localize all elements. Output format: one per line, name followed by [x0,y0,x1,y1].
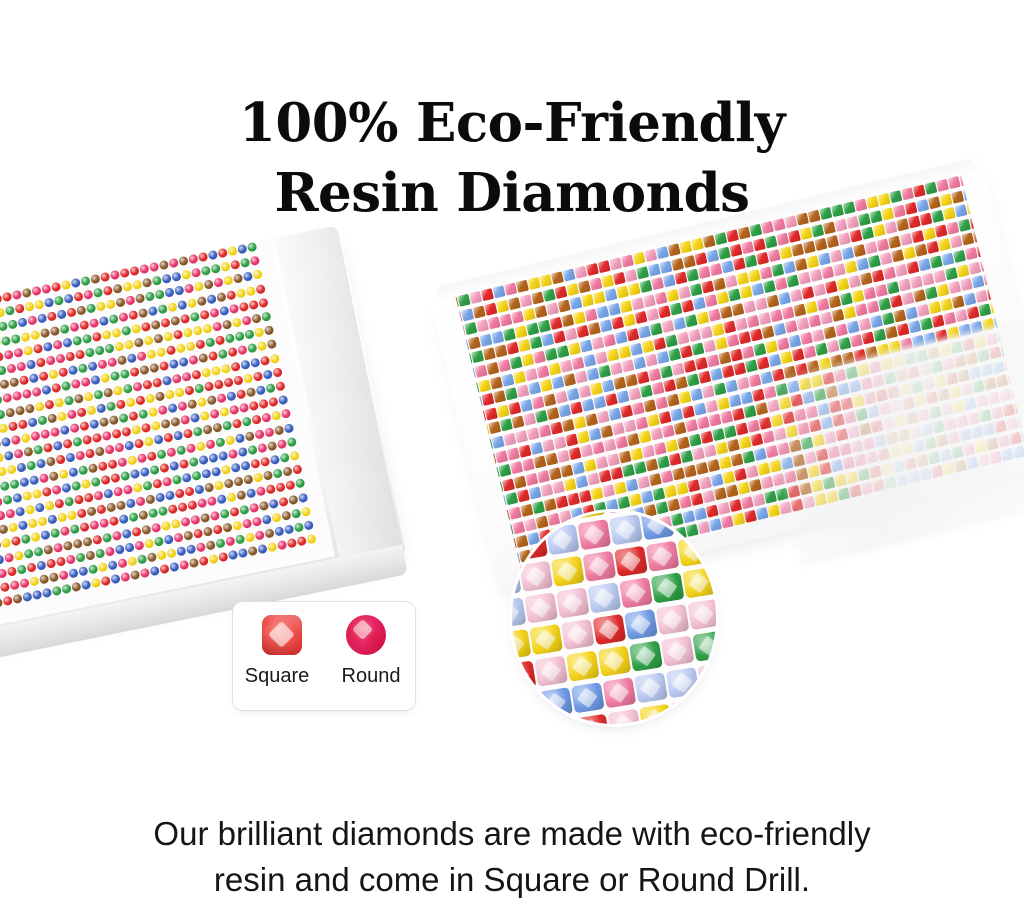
legend-label-square: Square [241,665,313,688]
round-drill-bead [220,363,231,374]
round-drill-bead [125,397,136,408]
round-drill-bead [27,417,38,428]
round-drill-bead [102,532,113,543]
round-drill-bead [109,415,120,426]
round-drill-bead [212,524,223,535]
round-drill-bead [165,490,176,501]
product-description: Our brilliant diamonds are made with eco… [0,811,1024,903]
round-drill-bead [33,445,44,456]
round-drill-bead [197,498,208,509]
round-drill-bead [72,538,83,549]
round-drill-bead [153,435,164,446]
round-drill-bead [208,351,219,362]
round-drill-bead [118,311,129,322]
round-drill-bead [79,421,90,432]
round-drill-bead [32,488,43,499]
round-drill-bead [218,451,229,462]
round-drill-bead [64,496,75,507]
magnified-square-gem [541,512,575,524]
magnified-square-gem [577,519,611,550]
round-drill-bead [4,552,15,563]
round-drill-bead [183,530,194,541]
round-drill-bead [155,391,166,402]
round-drill-bead [240,258,251,269]
round-drill-bead [269,353,280,364]
round-drill-bead [139,264,150,275]
round-drill-bead [82,333,93,344]
round-drill-bead [68,568,79,579]
round-drill-bead [79,319,90,330]
round-drill-bead [58,469,69,480]
round-drill-bead [270,454,281,465]
round-drill-bead [228,449,239,460]
round-drill-bead [78,363,89,374]
round-drill-bead [159,260,170,271]
round-drill-bead [192,325,203,336]
round-drill-bead [218,552,229,563]
round-drill-bead [3,349,14,360]
round-drill-bead [233,274,244,285]
round-drill-bead [26,359,37,370]
round-drill-bead [128,512,139,523]
round-drill-bead [201,367,212,378]
round-drill-bead [187,399,198,410]
round-drill-bead [138,307,149,318]
round-drill-bead [6,465,17,476]
round-drill-bead [134,337,145,348]
round-drill-bead [255,385,266,396]
round-drill-bead [282,466,293,477]
round-drill-bead [111,327,122,338]
round-drill-bead [220,262,231,273]
round-drill-bead [258,399,269,410]
round-drill-bead [62,439,73,450]
square-drill-bead [1011,236,1024,249]
round-drill-bead [124,339,135,350]
round-drill-bead [254,327,265,338]
round-drill-bead [252,270,263,281]
round-drill-bead [18,520,29,531]
magnified-square-gem [571,682,605,713]
round-drill-bead [12,492,23,503]
round-drill-bead [166,548,177,559]
round-drill-bead [134,439,145,450]
round-drill-bead [277,540,288,551]
round-drill-bead [80,377,91,388]
round-drill-bead [291,508,302,519]
round-drill-bead [13,449,24,460]
round-drill-bead [201,468,212,479]
round-drill-bead [219,305,230,316]
magnified-square-gem [634,672,668,703]
round-drill-bead [6,363,17,374]
round-drill-bead [105,299,116,310]
drill-shape-legend-card[interactable]: Square Round [232,601,416,711]
round-drill-bead [210,510,221,521]
round-drill-bead [110,472,121,483]
round-drill-bead [57,512,68,523]
round-drill-bead [60,526,71,537]
round-drill-bead [149,262,160,273]
round-drill-bead [156,449,167,460]
round-drill-bead [93,288,104,299]
round-drill-bead [112,530,123,541]
round-drill-bead [156,347,167,358]
round-drill-bead [295,478,306,489]
round-drill-bead [33,546,44,557]
round-drill-bead [92,331,103,342]
magnified-square-gem [512,660,537,691]
round-drill-bead [90,375,101,386]
magnified-square-gem [641,512,675,540]
round-drill-bead [89,520,100,531]
round-drill-bead [120,470,131,481]
round-drill-bead [287,538,298,549]
round-drill-bead [80,276,91,287]
round-drill-bead [120,572,131,583]
round-drill-bead [61,381,72,392]
round-drill-bead [232,419,243,430]
round-drill-bead [85,347,96,358]
round-drill-bead [119,514,130,525]
round-drill-bead [288,494,299,505]
round-drill-bead [230,260,241,271]
round-drill-bead [1,538,12,549]
round-drill-bead [11,435,22,446]
round-drill-bead [198,252,209,263]
round-drill-bead [128,411,139,422]
round-drill-bead [275,482,286,493]
round-drill-bead [249,502,260,513]
round-drill-bead [130,570,141,581]
round-drill-bead [83,492,94,503]
round-drill-bead [119,268,130,279]
round-drill-bead [116,500,127,511]
round-drill-bead [7,566,18,577]
round-drill-bead [146,451,157,462]
round-drill-bead [163,534,174,545]
round-drill-bead [29,373,40,384]
round-drill-bead [250,357,261,368]
round-drill-bead [123,484,134,495]
round-drill-bead [208,453,219,464]
round-drill-bead [186,544,197,555]
round-drill-bead [238,548,249,559]
round-drill-bead [49,572,60,583]
round-drill-bead [59,323,70,334]
round-drill-bead [17,317,28,328]
round-drill-bead [40,327,51,338]
round-drill-bead [43,341,54,352]
round-drill-bead [145,292,156,303]
round-drill-bead [148,508,159,519]
product-banner: 100% Eco-Friendly Resin Diamonds Square [0,0,1024,923]
round-drill-bead [232,317,243,328]
round-drill-bead [262,369,273,380]
round-drill-bead [60,425,71,436]
round-drill-bead [37,415,48,426]
round-drill-bead [140,568,151,579]
round-drill-bead [241,315,252,326]
round-drill-bead [245,532,256,543]
round-drill-bead [183,327,194,338]
round-drill-bead [82,536,93,547]
magnified-square-gem [614,546,648,577]
round-drill-bead [208,554,219,565]
round-drill-bead [198,455,209,466]
round-drill-bead [91,578,102,589]
magnified-square-gem [534,655,568,686]
round-drill-bead [237,447,248,458]
magnified-square-gem [597,645,631,676]
round-drill-bead [221,464,232,475]
round-drill-bead [168,504,179,515]
round-drill-bead [122,282,133,293]
caption-line-2: resin and come in Square or Round Drill. [0,857,1024,903]
round-drill-bead [169,359,180,370]
round-drill-bead [144,538,155,549]
round-drill-bead [8,522,19,533]
magnified-square-gem [656,604,690,635]
round-drill-bead [162,476,173,487]
round-drill-bead [201,266,212,277]
round-drill-bead [186,443,197,454]
round-drill-bead [196,542,207,553]
round-drill-bead [259,500,270,511]
magnified-square-gem [512,629,532,660]
round-drill-bead [223,276,234,287]
round-drill-bead [176,343,187,354]
round-drill-bead [75,552,86,563]
round-drill-bead [1,437,12,448]
round-drill-bead [88,463,99,474]
round-drill-bead [62,337,73,348]
magnified-square-gem [697,662,716,693]
round-drill-bead [74,494,85,505]
round-drill-bead [213,379,224,390]
round-drill-bead [256,486,267,497]
round-drill-bead [157,303,168,314]
round-drill-bead [12,391,23,402]
round-drill-bead [51,383,62,394]
round-drill-bead [197,397,208,408]
round-drill-bead [0,379,10,390]
round-drill-bead [193,528,204,539]
round-drill-bead [110,371,121,382]
round-drill-bead [56,556,67,567]
round-drill-bead [177,401,188,412]
round-drill-bead [271,512,282,523]
round-drill-bead [110,574,121,585]
round-drill-bead [149,464,160,475]
round-drill-bead [180,415,191,426]
round-drill-bead [254,429,265,440]
magnified-square-gem [607,709,641,724]
round-drill-bead [24,302,35,313]
legend-label-row: Square Round [233,665,415,688]
round-drill-bead [58,367,69,378]
round-drill-bead [81,580,92,591]
round-drill-bead [41,486,52,497]
round-drill-bead [100,373,111,384]
round-drill-bead [115,298,126,309]
round-drill-bead [121,427,132,438]
round-drill-bead [109,516,120,527]
round-drill-bead [179,459,190,470]
round-drill-bead [160,317,171,328]
round-drill-bead [190,514,201,525]
round-drill-bead [239,301,250,312]
round-drill-bead [70,278,81,289]
round-drill-bead [69,423,80,434]
legend-gem-row [233,615,415,655]
round-drill-bead [164,389,175,400]
round-drill-bead [278,395,289,406]
round-drill-bead [23,345,34,356]
round-drill-bead [141,321,152,332]
caption-line-1: Our brilliant diamonds are made with eco… [153,815,870,852]
round-drill-bead [132,482,143,493]
round-drill-bead [240,460,251,471]
round-drill-bead [303,520,314,531]
magnified-square-gem [682,567,716,598]
round-gem-icon [346,615,386,655]
round-drill-bead [216,291,227,302]
round-drill-bead [184,486,195,497]
round-drill-bead [180,516,191,527]
round-drill-bead [246,387,257,398]
round-drill-bead [71,582,82,593]
round-drill-bead [159,564,170,575]
round-drill-bead [120,369,131,380]
magnified-square-gem [602,677,636,708]
round-drill-bead [228,550,239,561]
round-drill-bead [113,486,124,497]
magnified-square-gem [702,694,716,724]
round-drill-bead [243,373,254,384]
round-drill-bead [89,317,100,328]
round-drill-bead [191,268,202,279]
magnified-square-gem [519,561,553,592]
round-drill-bead [152,478,163,489]
round-drill-bead [14,304,25,315]
magnified-square-gem [512,692,542,723]
round-drill-bead [12,594,23,605]
round-drill-bead [73,393,84,404]
round-drill-bead [79,522,90,533]
round-drill-bead [173,431,184,442]
round-drill-bead [106,401,117,412]
round-drill-bead [36,459,47,470]
round-drill-bead [207,496,218,507]
round-drill-bead [257,443,268,454]
round-drill-bead [25,504,36,515]
round-drill-bead [47,413,58,424]
round-drill-bead [151,421,162,432]
round-drill-bead [222,319,233,330]
round-drill-bead [19,578,30,589]
round-drill-bead [75,451,86,462]
round-drill-bead [176,546,187,557]
round-drill-bead [40,530,51,541]
round-drill-bead [53,542,64,553]
round-drill-bead [66,409,77,420]
round-drill-bead [10,333,21,344]
round-drill-bead [64,395,75,406]
round-drill-bead [56,309,67,320]
round-drill-bead [96,301,107,312]
round-drill-bead [233,375,244,386]
round-drill-bead [19,375,30,386]
round-drill-bead [145,494,156,505]
round-drill-bead [125,498,136,509]
round-drill-bead [137,453,148,464]
round-drill-bead [52,339,63,350]
round-drill-bead [45,355,56,366]
round-drill-bead [191,470,202,481]
round-drill-bead [163,433,174,444]
round-drill-bead [78,465,89,476]
round-drill-bead [41,284,52,295]
round-drill-bead [82,435,93,446]
round-drill-bead [139,466,150,477]
round-drill-bead [202,425,213,436]
round-drill-bead [4,451,15,462]
round-drill-bead [198,556,209,567]
round-drill-bead [203,280,214,291]
magnified-square-gem [672,512,706,535]
round-drill-bead [277,439,288,450]
round-drill-bead [107,560,118,571]
magnified-square-gem [514,529,548,560]
round-drill-bead [138,409,149,420]
round-drill-bead [284,423,295,434]
magnified-square-gem [582,551,616,582]
headline-line-1: 100% Eco-Friendly [239,92,785,154]
round-drill-bead [54,498,65,509]
round-drill-bead [180,313,191,324]
round-drill-bead [31,387,42,398]
round-drill-bead [13,347,24,358]
round-drill-bead [222,522,233,533]
round-drill-bead [16,463,27,474]
round-drill-bead [47,311,58,322]
round-drill-bead [9,377,20,388]
round-drill-bead [121,528,132,539]
round-drill-bead [65,453,76,464]
round-drill-bead [111,429,122,440]
round-drill-bead [81,478,92,489]
round-drill-bead [212,423,223,434]
round-drill-bead [148,407,159,418]
round-drill-bead [187,500,198,511]
round-drill-bead [189,558,200,569]
round-drill-bead [2,596,13,607]
round-drill-bead [247,445,258,456]
round-drill-bead [26,562,37,573]
round-drill-bead [160,419,171,430]
round-drill-bead [63,540,74,551]
round-drill-bead [131,323,142,334]
round-drill-bead [152,276,163,287]
round-drill-bead [135,496,146,507]
round-drill-bead [39,574,50,585]
round-drill-bead [159,361,170,372]
round-drill-bead [243,474,254,485]
round-drill-bead [78,566,89,577]
round-drill-bead [268,498,279,509]
round-drill-bead [226,289,237,300]
